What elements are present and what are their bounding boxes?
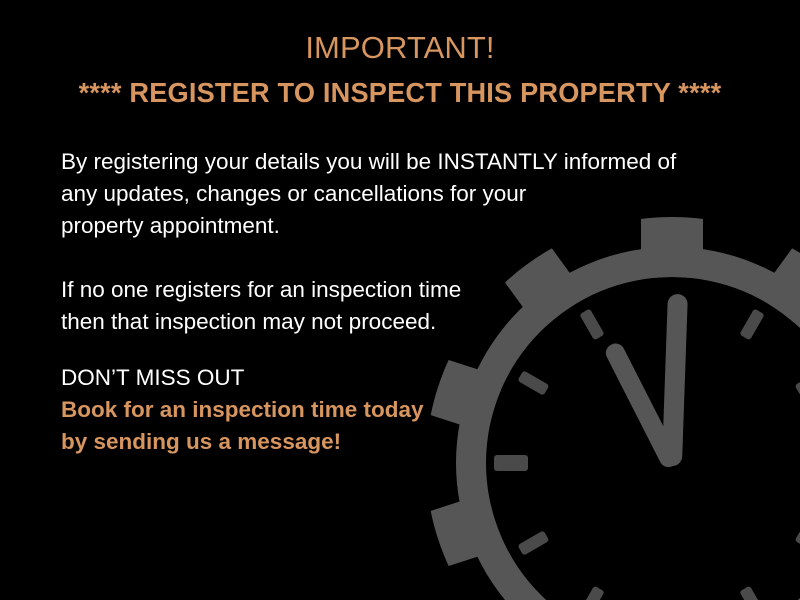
headline-important: IMPORTANT! (0, 30, 800, 66)
headline-register-to-inspect: **** REGISTER TO INSPECT THIS PROPERTY *… (12, 76, 788, 110)
paragraph-1-line-1: By registering your details you will be … (61, 146, 676, 178)
paragraph-2-line-1: If no one registers for an inspection ti… (61, 274, 461, 306)
slide-text-layer: IMPORTANT! **** REGISTER TO INSPECT THIS… (0, 0, 800, 600)
paragraph-call-to-action: DON’T MISS OUT Book for an inspection ti… (61, 362, 424, 458)
cta-book-inspection: Book for an inspection time today (61, 394, 424, 426)
paragraph-1-line-2: any updates, changes or cancellations fo… (61, 178, 676, 210)
slide-canvas: IMPORTANT! **** REGISTER TO INSPECT THIS… (0, 0, 800, 600)
cta-send-message: by sending us a message! (61, 426, 424, 458)
paragraph-no-registrations-warning: If no one registers for an inspection ti… (61, 274, 461, 338)
paragraph-1-line-3: property appointment. (61, 210, 676, 242)
paragraph-registering-benefits: By registering your details you will be … (61, 146, 676, 242)
paragraph-2-line-2: then that inspection may not proceed. (61, 306, 461, 338)
cta-dont-miss-out: DON’T MISS OUT (61, 362, 424, 394)
